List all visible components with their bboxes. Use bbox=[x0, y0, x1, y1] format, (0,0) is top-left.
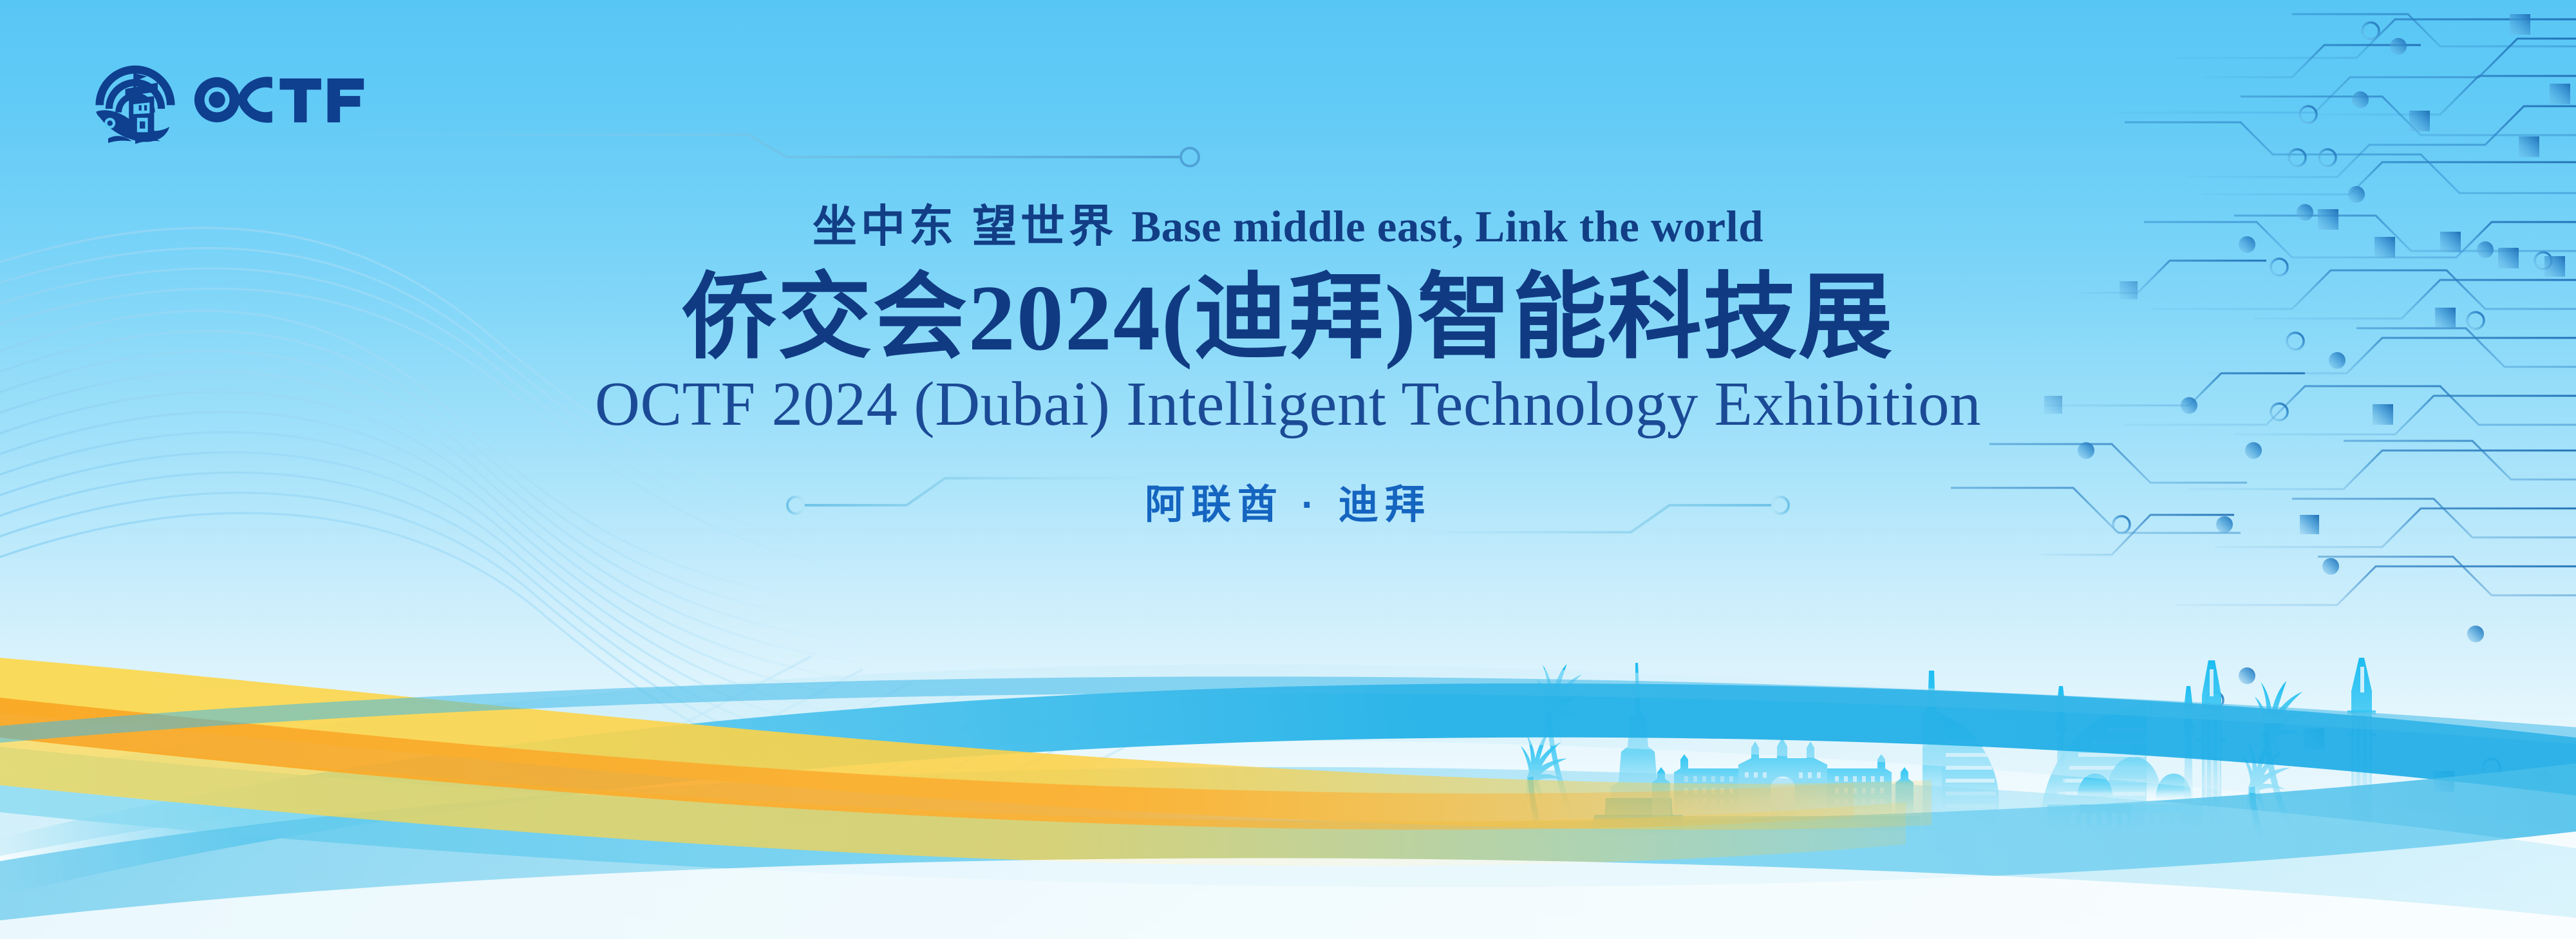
ribbon-waves-decoration bbox=[0, 0, 2576, 939]
event-banner: 坐中东 望世界Base middle east, Link the world … bbox=[0, 0, 2576, 939]
